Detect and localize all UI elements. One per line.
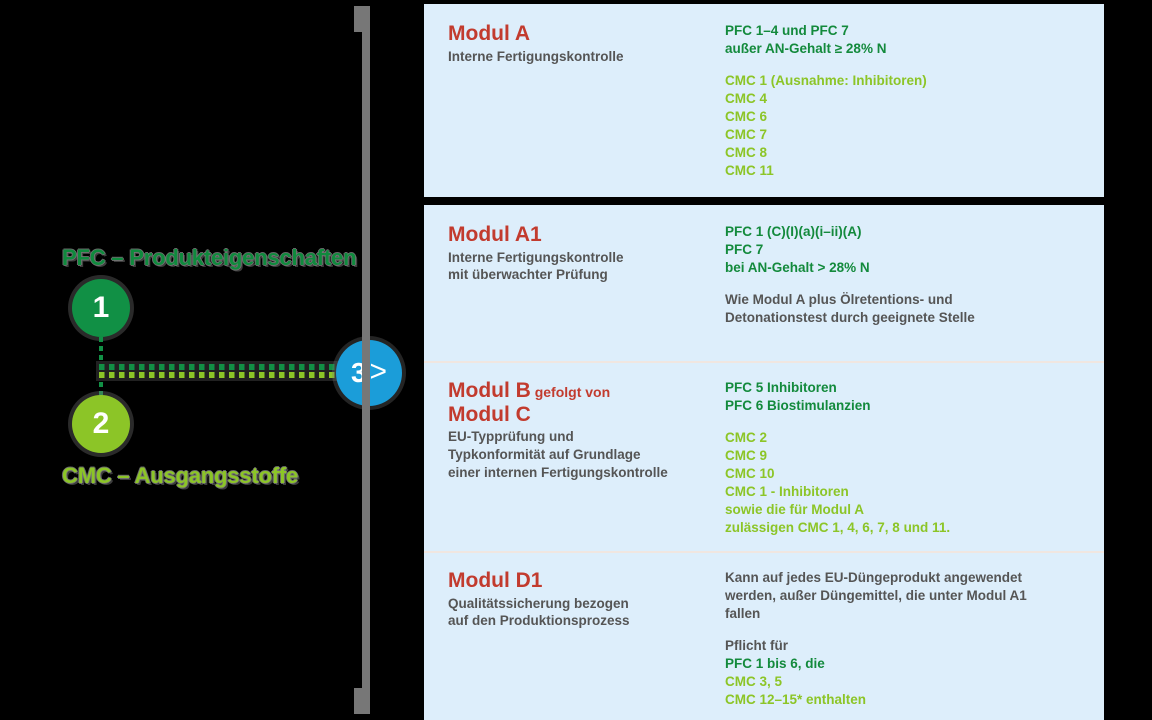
requirement-line: werden, außer Düngemittel, die unter Mod… — [725, 587, 1091, 605]
module-description: EU-Typprüfung undTypkonformität auf Grun… — [448, 428, 724, 482]
module-title-main: Modul D1 — [448, 569, 543, 592]
requirement-line: CMC 10 — [725, 465, 1091, 483]
module-description-line: einer internen Fertigungskontrolle — [448, 465, 668, 480]
module-description: Interne Fertigungskontrolle — [448, 48, 724, 66]
module-title-main: Modul B — [448, 379, 531, 402]
module-description-line: auf den Produktionsprozess — [448, 613, 630, 628]
module-title: Modul D1 — [448, 569, 724, 593]
requirement-line: sowie die für Modul A — [725, 501, 1091, 519]
requirement-line: fallen — [725, 605, 1091, 623]
requirement-line: CMC 3, 5 — [725, 673, 1091, 691]
requirement-line: zulässigen CMC 1, 4, 6, 7, 8 und 11. — [725, 519, 1091, 537]
module-description: Qualitätssicherung bezogenauf den Produk… — [448, 595, 724, 631]
module-title-main: Modul A — [448, 22, 530, 45]
module-description-line: Typkonformität auf Grundlage — [448, 447, 641, 462]
module-title-main: Modul A1 — [448, 223, 542, 246]
connector-horizontal-cmc — [99, 372, 354, 378]
requirement-line: PFC 5 Inhibitoren — [725, 379, 1091, 397]
module-title: Modul A1 — [448, 223, 724, 247]
module-title-line2: Modul C — [448, 403, 531, 426]
step-node-2-label: 2 — [93, 407, 110, 441]
legend-pfc-label: PFC – Produkteigenschaften — [62, 245, 356, 271]
vertical-divider-cap-top — [354, 6, 362, 32]
requirement-line: PFC 7 — [725, 241, 1091, 259]
module-card-left-column: Modul D1Qualitätssicherung bezogenauf de… — [448, 569, 724, 630]
requirement-line: CMC 7 — [725, 126, 1091, 144]
requirement-line: CMC 9 — [725, 447, 1091, 465]
step-node-2[interactable]: 2 — [72, 395, 130, 453]
connector-horizontal-pfc — [99, 364, 354, 370]
requirement-line: PFC 1–4 und PFC 7 — [725, 22, 1091, 40]
module-card-right-column: PFC 1 (C)(I)(a)(i–ii)(A)PFC 7bei AN-Geha… — [725, 223, 1091, 327]
line-spacer — [725, 277, 1091, 291]
module-card[interactable]: Modul AInterne FertigungskontrollePFC 1–… — [424, 4, 1104, 197]
diagram-canvas: PFC – Produkteigenschaften 1 2 CMC – Aus… — [0, 0, 1152, 720]
requirement-line: PFC 1 (C)(I)(a)(i–ii)(A) — [725, 223, 1091, 241]
legend-cmc-label: CMC – Ausgangsstoffe — [62, 463, 298, 489]
module-card-left-column: Modul A1Interne Fertigungskontrollemit ü… — [448, 223, 724, 284]
requirement-line: CMC 4 — [725, 90, 1091, 108]
requirement-line: PFC 6 Biostimulanzien — [725, 397, 1091, 415]
module-card[interactable]: Modul D1Qualitätssicherung bezogenauf de… — [424, 551, 1104, 720]
requirement-line: bei AN-Gehalt > 28% N — [725, 259, 1091, 277]
module-description-line: EU-Typprüfung und — [448, 429, 574, 444]
module-card[interactable]: Modul A1Interne Fertigungskontrollemit ü… — [424, 205, 1104, 361]
module-card-right-column: PFC 5 InhibitorenPFC 6 BiostimulanzienCM… — [725, 379, 1091, 537]
module-card-left-column: Modul AInterne Fertigungskontrolle — [448, 22, 724, 65]
step-node-1[interactable]: 1 — [72, 279, 130, 337]
vertical-divider-rule — [362, 6, 370, 714]
module-description: Interne Fertigungskontrollemit überwacht… — [448, 249, 724, 285]
card-separator — [424, 361, 1104, 363]
vertical-divider-cap-bottom — [354, 688, 362, 714]
module-card[interactable]: Modul B gefolgt vonModul CEU-Typprüfung … — [424, 361, 1104, 551]
module-card-right-column: Kann auf jedes EU-Düngeprodukt angewende… — [725, 569, 1091, 709]
requirement-line: CMC 2 — [725, 429, 1091, 447]
module-description-line: Interne Fertigungskontrolle — [448, 49, 624, 64]
module-cards-container: Modul AInterne FertigungskontrollePFC 1–… — [424, 0, 1152, 720]
module-description-line: Qualitätssicherung bezogen — [448, 596, 629, 611]
requirement-line: CMC 12–15* enthalten — [725, 691, 1091, 709]
left-diagram-panel: PFC – Produkteigenschaften 1 2 CMC – Aus… — [0, 0, 424, 720]
module-card-left-column: Modul B gefolgt vonModul CEU-Typprüfung … — [448, 379, 724, 482]
requirement-line: CMC 8 — [725, 144, 1091, 162]
requirement-line: CMC 1 - Inhibitoren — [725, 483, 1091, 501]
requirement-line: Kann auf jedes EU-Düngeprodukt angewende… — [725, 569, 1091, 587]
module-title-suffix: gefolgt von — [531, 384, 610, 400]
module-title: Modul B gefolgt vonModul C — [448, 379, 724, 426]
card-separator — [424, 551, 1104, 553]
line-spacer — [725, 623, 1091, 637]
chevron-right-icon: > — [370, 357, 388, 387]
requirement-line: Pflicht für — [725, 637, 1091, 655]
requirement-line: Detonationstest durch geeignete Stelle — [725, 309, 1091, 327]
requirement-line: CMC 6 — [725, 108, 1091, 126]
requirement-line: Wie Modul A plus Ölretentions- und — [725, 291, 1091, 309]
line-spacer — [725, 58, 1091, 72]
requirement-line: außer AN-Gehalt ≥ 28% N — [725, 40, 1091, 58]
module-description-line: Interne Fertigungskontrolle — [448, 250, 624, 265]
module-description-line: mit überwachter Prüfung — [448, 267, 608, 282]
requirement-line: PFC 1 bis 6, die — [725, 655, 1091, 673]
module-card-right-column: PFC 1–4 und PFC 7außer AN-Gehalt ≥ 28% N… — [725, 22, 1091, 180]
module-title: Modul A — [448, 22, 724, 46]
requirement-line: CMC 1 (Ausnahme: Inhibitoren) — [725, 72, 1091, 90]
line-spacer — [725, 415, 1091, 429]
requirement-line: CMC 11 — [725, 162, 1091, 180]
step-node-1-label: 1 — [93, 291, 110, 325]
